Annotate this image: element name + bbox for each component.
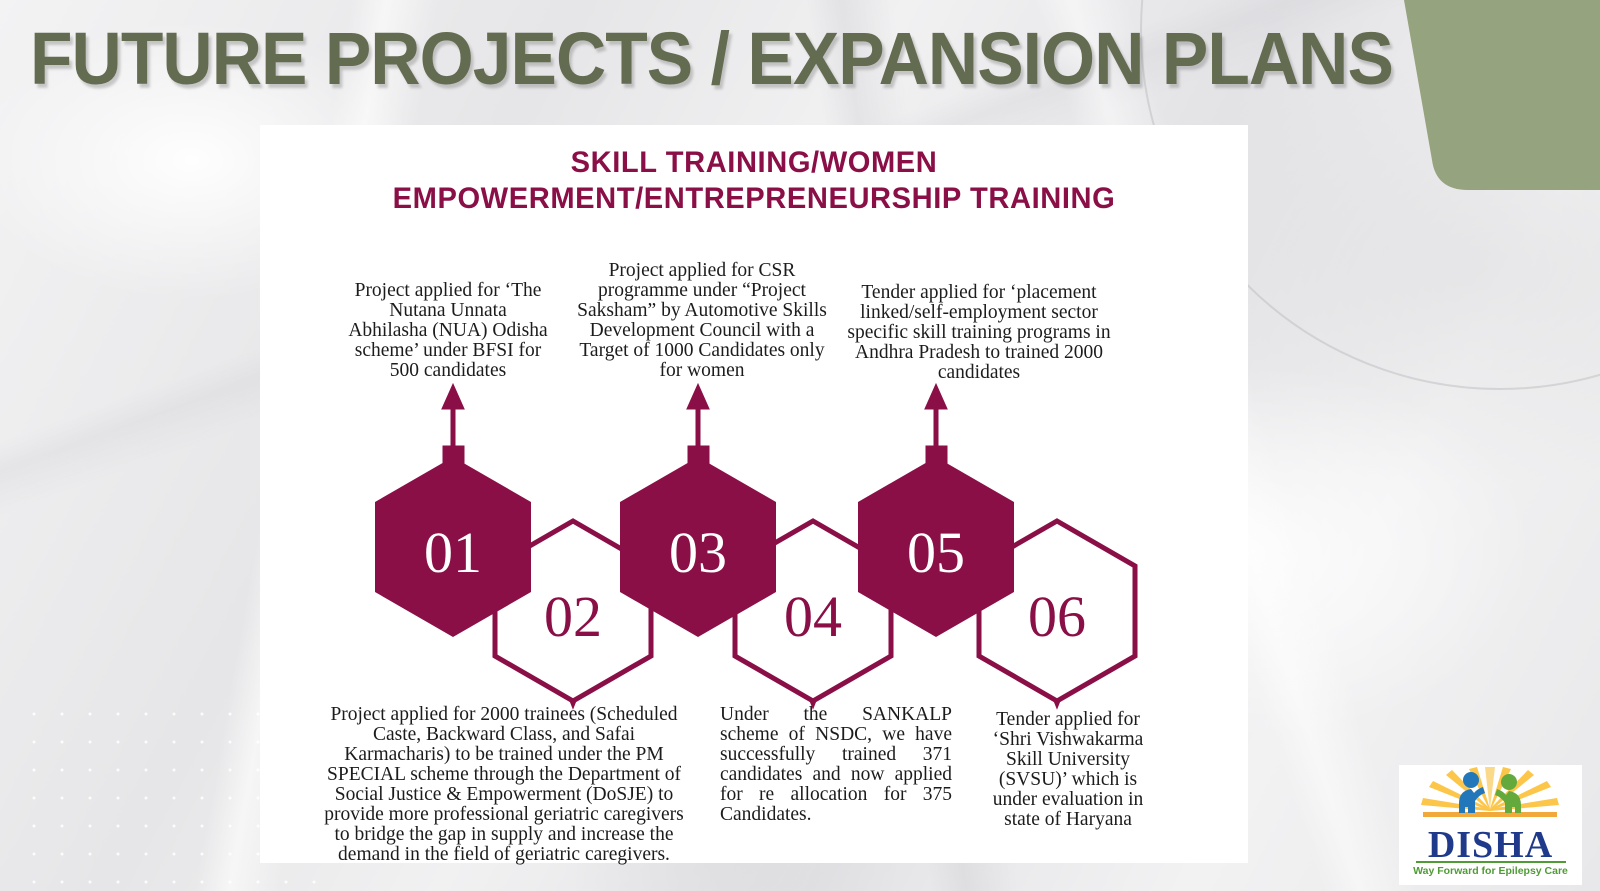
connector-up-step-01 [445,389,462,462]
callout-step-04: Under the SANKALP scheme of NSDC, we hav… [720,705,952,825]
callout-step-06: Tender applied for ‘Shri Vishwakarma Ski… [978,710,1158,830]
connector-up-step-03 [690,389,707,462]
hexagon-number-06: 06 [1028,584,1086,649]
hexagon-number-01: 01 [424,520,482,585]
logo-sunburst-icon [1399,765,1582,827]
hexagon-number-05: 05 [907,520,965,585]
logo-underline [1416,861,1566,864]
hexagon-number-03: 03 [669,520,727,585]
hexagon-number-04: 04 [784,584,842,649]
card-heading: SKILL TRAINING/WOMEN EMPOWERMENT/ENTREPR… [275,145,1233,217]
callout-step-02: Project applied for 2000 trainees (Sched… [320,705,688,865]
callout-step-03: Project applied for CSR programme under … [577,261,827,381]
callout-step-05: Tender applied for ‘placement linked/sel… [843,283,1115,383]
callout-step-01: Project applied for ‘The Nutana Unnata A… [348,281,548,381]
slide-canvas: FUTURE PROJECTS / EXPANSION PLANS SKILL … [0,0,1600,891]
hexagon-number-02: 02 [544,584,602,649]
logo-tagline: Way Forward for Epilepsy Care [1399,865,1582,877]
connector-up-step-05 [928,389,945,462]
content-card: SKILL TRAINING/WOMEN EMPOWERMENT/ENTREPR… [260,125,1248,863]
disha-logo: DISHA Way Forward for Epilepsy Care [1399,765,1582,885]
card-heading-line-1: SKILL TRAINING/WOMEN [275,145,1233,181]
card-heading-line-2: EMPOWERMENT/ENTREPRENEURSHIP TRAINING [275,181,1233,217]
page-title: FUTURE PROJECTS / EXPANSION PLANS [30,18,1393,100]
